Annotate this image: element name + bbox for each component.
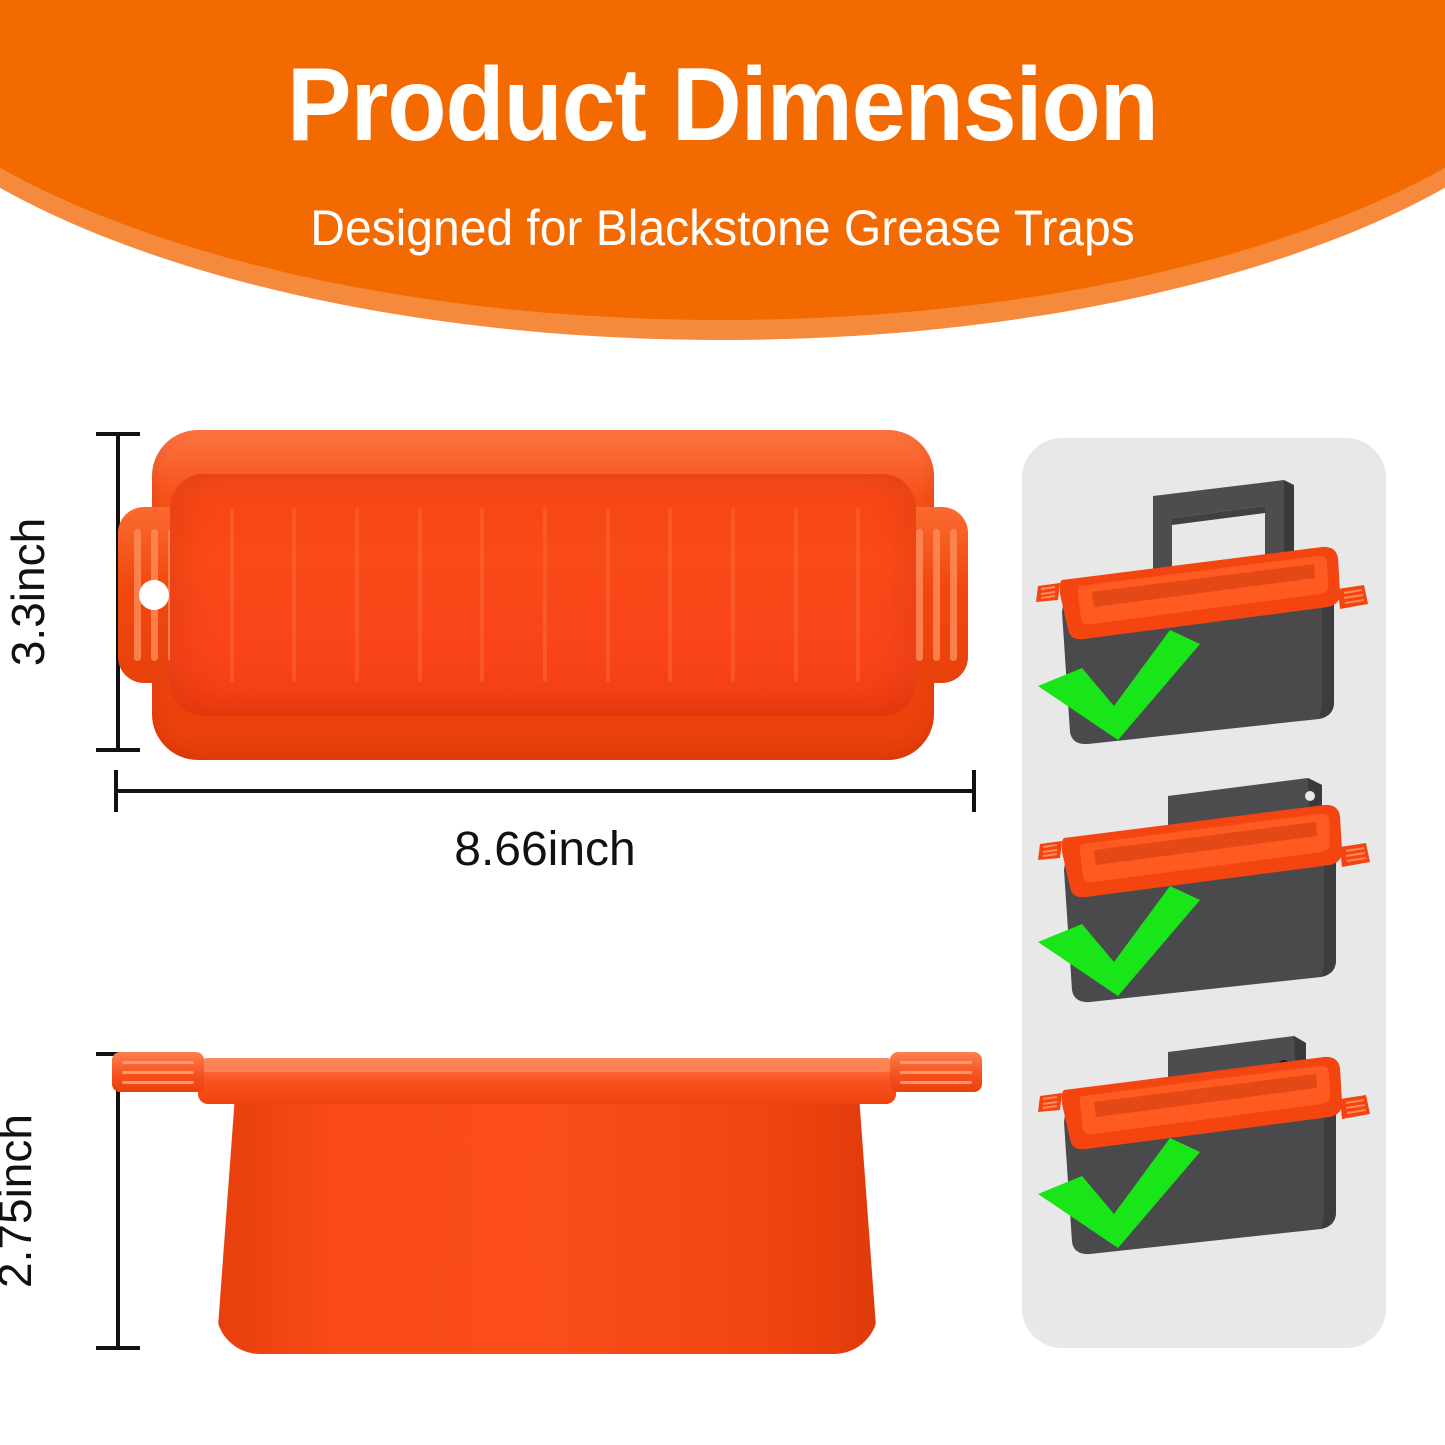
header-banner: Product Dimension Designed for Blackston… <box>0 0 1445 370</box>
silicone-tray-side-view <box>112 1032 982 1354</box>
use-case-trap-with-tall-handle <box>1022 444 1386 744</box>
handle-grip-line <box>916 529 923 661</box>
dimension-line <box>114 789 976 793</box>
dimension-label-width: 8.66inch <box>454 822 635 877</box>
use-case-trap-with-flat-backplate <box>1022 738 1386 1038</box>
tray-inner-basin <box>170 474 916 716</box>
side-tab-right <box>890 1052 982 1092</box>
dimension-width-top-view: 8.66inch <box>114 770 976 812</box>
handle-grip-line <box>950 529 957 661</box>
use-case-trap-with-short-bracket <box>1022 1034 1386 1334</box>
side-tab-left <box>112 1052 204 1092</box>
hanging-hole <box>139 580 169 610</box>
tab-groove-line <box>122 1061 194 1064</box>
dimension-label-height: 3.3inch <box>1 518 55 666</box>
trap-with-tall-handle-illustration <box>1022 444 1386 744</box>
page-subtitle: Designed for Blackstone Grease Traps <box>29 158 1416 255</box>
dimension-label-depth: 2.75inch <box>0 1114 42 1288</box>
infographic-root: Product Dimension Designed for Blackston… <box>0 0 1445 1445</box>
tab-groove-line <box>900 1071 972 1074</box>
tab-groove-line <box>122 1081 194 1084</box>
page-title: Product Dimension <box>51 0 1395 158</box>
silicone-tray-top-view <box>118 430 968 760</box>
header-text-group: Product Dimension Designed for Blackston… <box>0 0 1445 255</box>
tab-groove-line <box>900 1061 972 1064</box>
dimension-cap-right <box>972 770 976 812</box>
dimension-cap-left <box>114 770 118 812</box>
tub-body <box>216 1084 878 1354</box>
tray-inner-shading <box>170 474 916 716</box>
trap-with-flat-backplate-illustration <box>1022 738 1386 1038</box>
tab-groove-line <box>900 1081 972 1084</box>
grease-trap-compatibility-panel <box>1022 438 1386 1348</box>
tab-groove-line <box>122 1071 194 1074</box>
trap-with-short-bracket-illustration <box>1022 1034 1386 1334</box>
tub-rim-highlight <box>198 1058 896 1072</box>
handle-grip-line <box>933 529 940 661</box>
